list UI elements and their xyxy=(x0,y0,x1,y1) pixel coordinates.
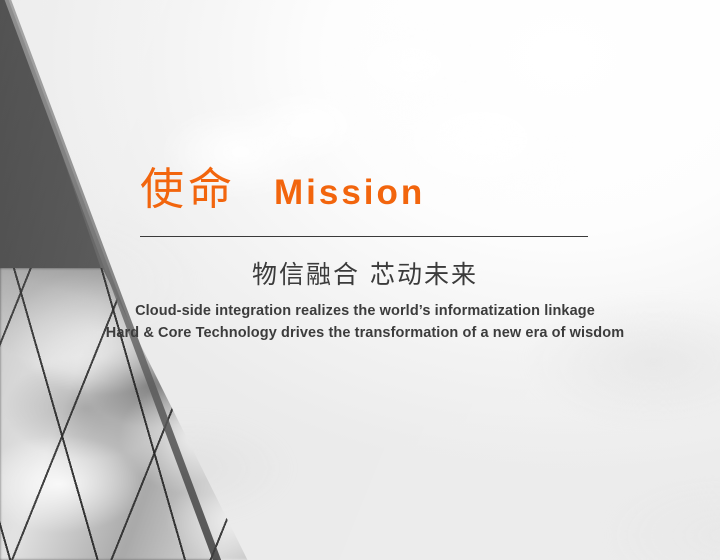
heading-row: 使命 Mission xyxy=(140,168,590,212)
subtitle-line-2: Hard & Core Technology drives the transf… xyxy=(60,322,670,344)
heading-chinese: 使命 xyxy=(140,168,236,212)
heading-english: Mission xyxy=(274,175,425,210)
heading-divider-rule xyxy=(140,236,588,237)
subtitle-group: Cloud-side integration realizes the worl… xyxy=(60,300,670,344)
mission-banner: 使命 Mission 物信融合 芯动未来 Cloud-side integrat… xyxy=(0,0,720,560)
tagline-chinese: 物信融合 芯动未来 xyxy=(140,259,590,290)
banner-content: 使命 Mission 物信融合 芯动未来 Cloud-side integrat… xyxy=(0,0,720,560)
subtitle-line-1: Cloud-side integration realizes the worl… xyxy=(60,300,670,322)
